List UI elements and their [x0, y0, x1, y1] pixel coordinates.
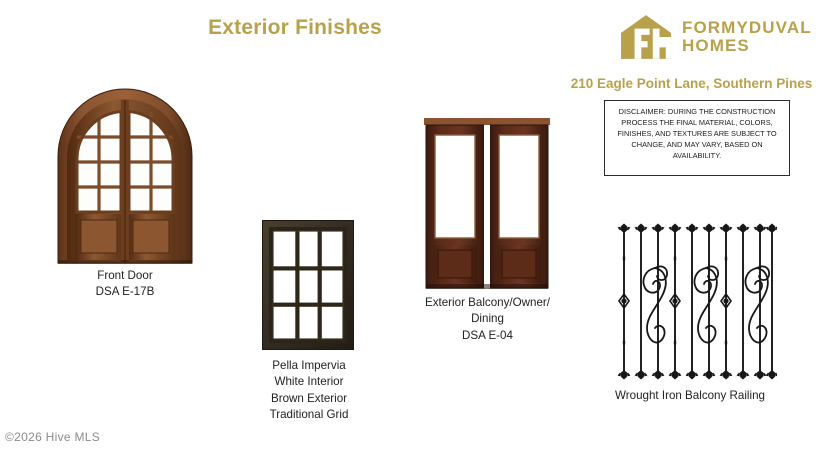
railing-caption: Wrought Iron Balcony Railing	[590, 388, 790, 404]
window-caption-line-3: Brown Exterior	[245, 391, 373, 407]
project-address: 210 Eagle Point Lane, Southern Pines	[558, 76, 825, 91]
balcony-door-image	[424, 118, 550, 290]
front-door-caption-line-1: Front Door	[45, 268, 205, 284]
logo-line-2: HOMES	[682, 37, 812, 55]
front-door-caption-line-2: DSA E-17B	[45, 284, 205, 300]
front-door-illustration	[55, 88, 195, 266]
balcony-door-caption-line-2: Dining	[400, 311, 575, 327]
balcony-door-caption-line-3: DSA E-04	[400, 328, 575, 344]
disclaimer-box: DISCLAIMER: DURING THE CONSTRUCTION PROC…	[604, 100, 790, 176]
balcony-door-illustration	[424, 118, 550, 290]
window-caption-line-4: Traditional Grid	[245, 407, 373, 423]
front-door-image	[55, 88, 195, 266]
window-caption-line-1: Pella Impervia	[245, 358, 373, 374]
page-title: Exterior Finishes	[0, 16, 590, 40]
logo-wordmark: FORMYDUVAL HOMES	[682, 19, 812, 55]
balcony-door-caption-line-1: Exterior Balcony/Owner/	[400, 295, 575, 311]
balcony-door-caption: Exterior Balcony/Owner/ Dining DSA E-04	[400, 295, 575, 344]
mls-watermark: ©2026 Hive MLS	[5, 430, 100, 444]
window-caption: Pella Impervia White Interior Brown Exte…	[245, 358, 373, 424]
window-illustration	[262, 220, 354, 350]
front-door-caption: Front Door DSA E-17B	[45, 268, 205, 301]
railing-image	[612, 220, 777, 383]
logo-line-1: FORMYDUVAL	[682, 18, 812, 37]
exterior-finishes-board: Exterior Finishes FORMYDUVAL HOMES 210 E…	[0, 0, 825, 458]
company-logo: FORMYDUVAL HOMES	[620, 14, 812, 60]
window-caption-line-2: White Interior	[245, 374, 373, 390]
railing-illustration	[612, 220, 777, 383]
railing-caption-line-1: Wrought Iron Balcony Railing	[590, 388, 790, 404]
house-fh-monogram-icon	[620, 14, 672, 60]
window-image	[262, 220, 354, 350]
